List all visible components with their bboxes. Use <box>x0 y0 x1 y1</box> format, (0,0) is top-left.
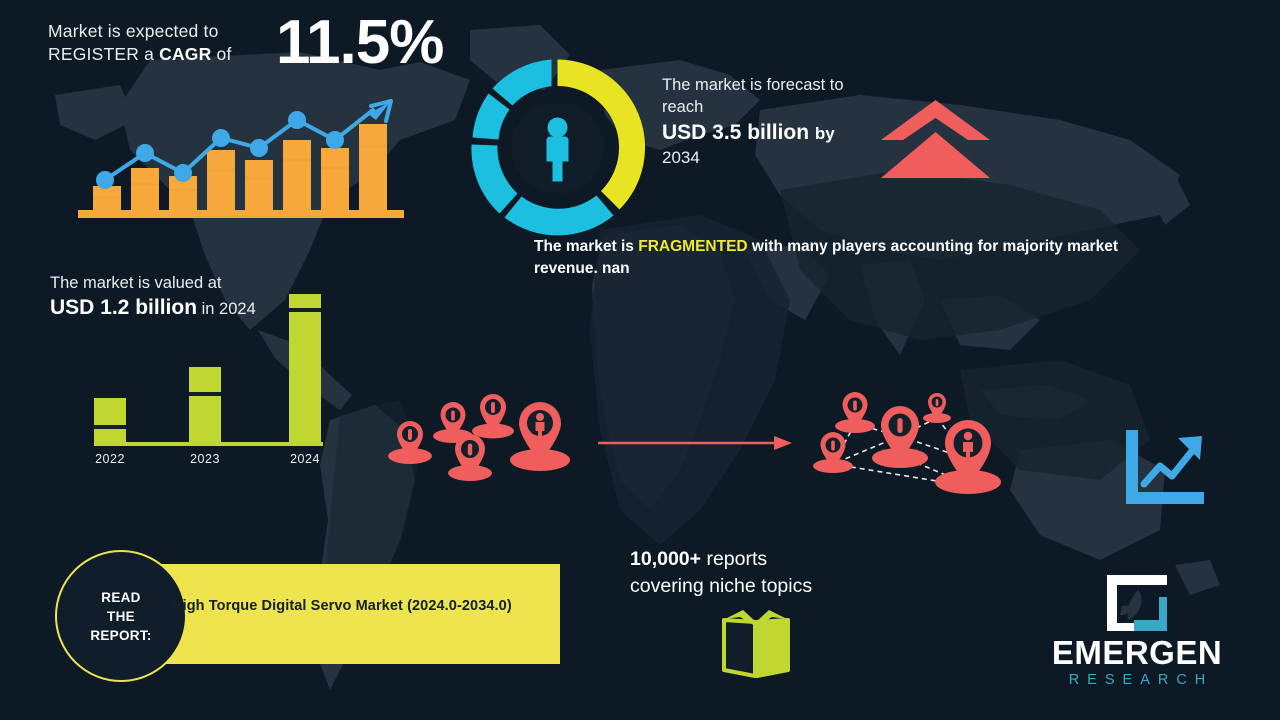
reports-line1: 10,000+ reports <box>630 546 812 573</box>
growth-chart-icon <box>1120 428 1210 510</box>
bar-chart-with-trend-line-icon <box>65 88 415 223</box>
bar-divider <box>94 425 126 429</box>
forecast-value-row: USD 3.5 billion by <box>662 120 912 147</box>
fragmentation-line1-pre: The market is <box>534 238 638 255</box>
logo-wordmark: EMERGEN <box>1022 634 1252 672</box>
forecast-connector: by <box>815 124 835 143</box>
cagr-lead-line2-post: of <box>211 44 231 64</box>
forecast-block: The market is forecast to reach USD 3.5 … <box>662 74 912 168</box>
read-the-report-badge[interactable]: READ THE REPORT: <box>55 550 187 682</box>
reports-line1-rest: reports <box>701 548 767 570</box>
market-value-bar-chart: 2022 2023 2024 <box>80 290 340 470</box>
double-chevron-up-icon <box>878 98 993 180</box>
badge-line3: REPORT: <box>90 628 151 643</box>
emergen-research-logo: EMERGEN RESEARCH <box>1022 572 1252 702</box>
report-title[interactable]: High Torque Digital Servo Market (2024.0… <box>172 598 512 614</box>
map-pin-cluster-icon <box>385 388 580 493</box>
square-outline-logo-icon <box>1104 572 1170 634</box>
fragmentation-line1-post: with many players accounting for majorit… <box>748 238 1118 255</box>
donut-segment-b <box>473 94 510 140</box>
cagr-lead-text: Market is expected to REGISTER a CAGR of <box>48 20 278 66</box>
fragmentation-keyword: FRAGMENTED <box>638 238 747 255</box>
cagr-lead-line2-pre: REGISTER a <box>48 44 159 64</box>
bar-2022 <box>94 398 126 442</box>
cagr-keyword: CAGR <box>159 44 211 64</box>
axis-label-2024: 2024 <box>275 452 335 466</box>
forecast-value: USD 3.5 billion <box>662 121 809 144</box>
reports-line2: covering niche topics <box>630 573 812 600</box>
badge-line2: THE <box>107 609 135 624</box>
chart-baseline <box>94 442 323 446</box>
reports-count: 10,000+ <box>630 548 701 570</box>
cagr-lead-line1: Market is expected to <box>48 21 219 41</box>
open-book-icon <box>718 608 794 678</box>
cagr-value: 11.5% <box>276 12 443 74</box>
fragmentation-line1: The market is FRAGMENTED with many playe… <box>534 236 1206 258</box>
badge-line1: READ <box>101 590 140 605</box>
bar-divider <box>289 308 321 312</box>
axis-label-2023: 2023 <box>175 452 235 466</box>
forecast-lead-line2: reach <box>662 98 703 116</box>
connected-map-pin-network-icon <box>805 388 1010 500</box>
fragmentation-line2: revenue. nan <box>534 258 1206 280</box>
fragmentation-block: The market is FRAGMENTED with many playe… <box>534 236 1206 280</box>
bar-2023 <box>189 367 221 442</box>
forecast-lead: The market is forecast to reach <box>662 74 912 118</box>
donut-chart-with-person-icon <box>465 55 650 240</box>
axis-label-2022: 2022 <box>80 452 140 466</box>
donut-segment-a <box>493 60 552 106</box>
bar-divider <box>189 392 221 396</box>
bar-2024 <box>289 294 321 442</box>
infographic-canvas: Market is expected to REGISTER a CAGR of… <box>0 0 1280 720</box>
cagr-block: Market is expected to REGISTER a CAGR of… <box>48 20 408 66</box>
logo-subtitle: RESEARCH <box>1022 672 1252 688</box>
forecast-year: 2034 <box>662 147 912 168</box>
donut-segment-c <box>471 145 517 214</box>
donut-segment-d <box>505 196 614 236</box>
reports-block: 10,000+ reports covering niche topics <box>630 546 812 600</box>
right-arrow-icon <box>596 432 796 454</box>
forecast-lead-line1: The market is forecast to <box>662 76 844 94</box>
